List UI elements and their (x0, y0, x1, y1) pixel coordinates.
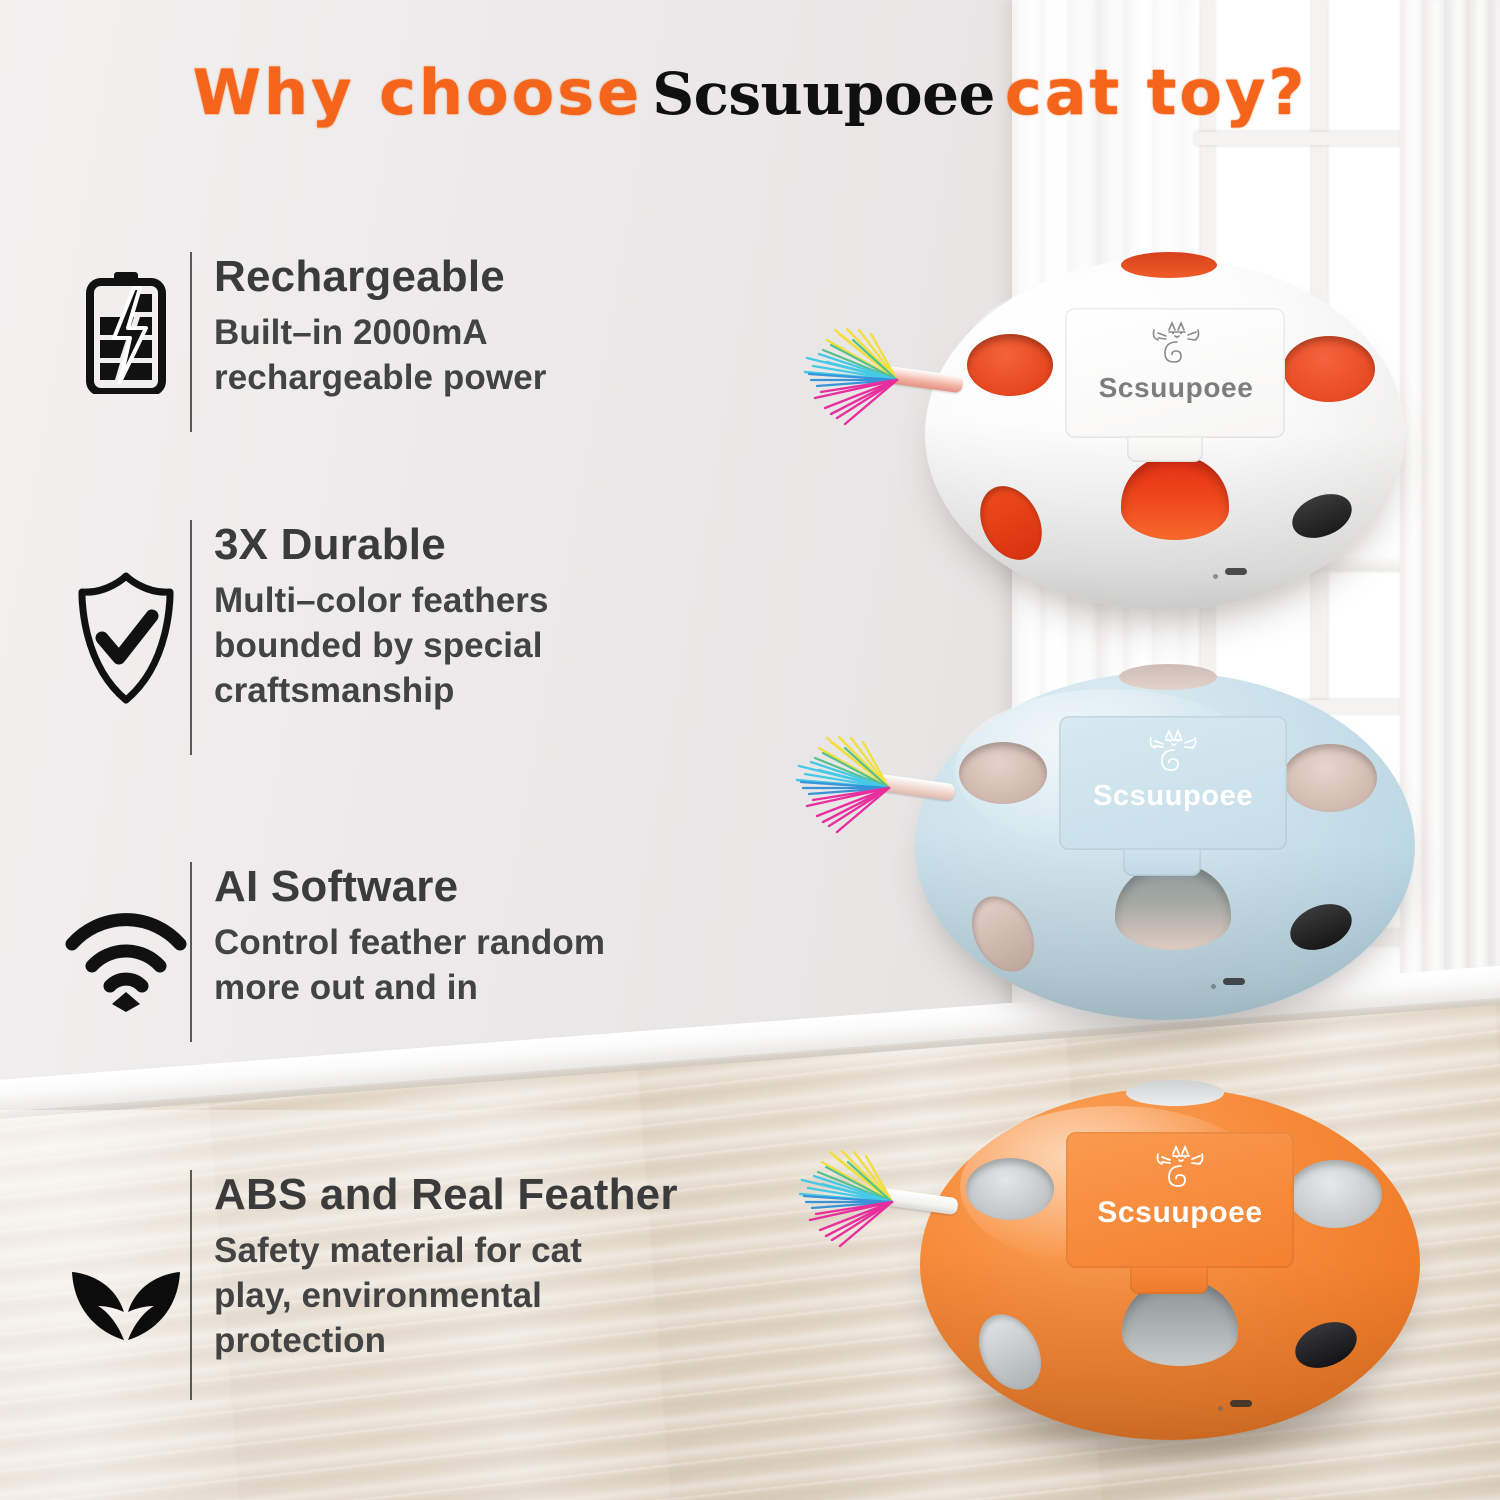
feature-rechargeable: Rechargeable Built–in 2000mA rechargeabl… (62, 252, 547, 432)
title-part-1: Why choose (193, 56, 643, 129)
feature-text: Rechargeable Built–in 2000mA rechargeabl… (214, 252, 547, 401)
toy-hole-front (1121, 456, 1229, 540)
toy-brand-text: Scsuupoee (1083, 780, 1263, 813)
toy-hole-right (1283, 744, 1377, 812)
orange-cat-toy[interactable]: Scsuupoee (920, 1088, 1420, 1440)
toy-lid-stem (1130, 1266, 1208, 1294)
usb-charging-port (1225, 568, 1247, 575)
toy-brand-text: Scsuupoee (1090, 1196, 1270, 1230)
feature-desc-line: Built–in 2000mA (214, 311, 547, 356)
feature-text: ABS and Real Feather Safety material for… (214, 1170, 678, 1364)
feature-description: Multi–color feathers bounded by special … (214, 579, 549, 713)
battery-charging-icon (62, 270, 190, 394)
status-led (1211, 984, 1216, 989)
feather-plume (789, 732, 909, 842)
title-part-2: cat toy? (1005, 56, 1307, 129)
title-brand: Scsuupoee (652, 60, 995, 128)
feather-wand[interactable] (799, 324, 999, 434)
feature-divider (190, 252, 192, 432)
toy-hole-right (1283, 336, 1375, 402)
feature-desc-line: bounded by special (214, 624, 549, 669)
toy-brand-text: Scsuupoee (1088, 372, 1264, 404)
feature-desc-line: Multi–color feathers (214, 579, 549, 624)
feature-desc-line: Safety material for cat (214, 1229, 678, 1274)
white-cat-toy[interactable]: Scsuupoee (925, 258, 1405, 610)
toy-hole-front (1115, 864, 1231, 950)
feature-desc-line: play, environmental (214, 1274, 678, 1319)
cat-line-logo-icon (1142, 728, 1204, 776)
feature-heading: AI Software (214, 862, 605, 911)
usb-charging-port (1223, 978, 1245, 985)
status-led (1218, 1406, 1223, 1411)
toy-logo: Scsuupoee (1083, 728, 1263, 813)
cat-line-logo-icon (1149, 1144, 1211, 1192)
toy-top-slot (1121, 252, 1217, 278)
infographic-canvas: Why chooseScsuupoeecat toy? Rechargeable… (0, 0, 1500, 1500)
toy-top-slot (1126, 1080, 1224, 1106)
feature-divider (190, 1170, 192, 1400)
feature-desc-line: craftsmanship (214, 669, 549, 714)
toy-top-slot (1119, 664, 1217, 690)
wifi-signal-icon (62, 910, 190, 1014)
toy-logo: Scsuupoee (1088, 320, 1264, 404)
feature-heading: Rechargeable (214, 252, 547, 301)
feather-wand[interactable] (794, 1146, 994, 1256)
feature-description: Control feather random more out and in (214, 921, 605, 1011)
toy-lid-stem (1123, 848, 1201, 876)
feature-heading: 3X Durable (214, 520, 549, 569)
cat-line-logo-icon (1145, 320, 1207, 368)
feature-ai-software: AI Software Control feather random more … (62, 862, 605, 1042)
feature-durable: 3X Durable Multi–color feathers bounded … (62, 520, 549, 755)
feature-divider (190, 520, 192, 755)
feature-desc-line: protection (214, 1319, 678, 1364)
feather-plume (792, 1146, 912, 1256)
feature-abs-real-feather: ABS and Real Feather Safety material for… (62, 1170, 678, 1400)
blue-cat-toy[interactable]: Scsuupoee (915, 672, 1415, 1020)
feature-desc-line: Control feather random (214, 921, 605, 966)
toy-lid-stem (1127, 436, 1203, 462)
feature-text: AI Software Control feather random more … (214, 862, 605, 1011)
feature-description: Built–in 2000mA rechargeable power (214, 311, 547, 401)
feature-text: 3X Durable Multi–color feathers bounded … (214, 520, 549, 714)
status-led (1213, 574, 1218, 579)
feature-divider (190, 862, 192, 1042)
feather-wand[interactable] (791, 732, 991, 842)
feather-plume (797, 324, 917, 434)
shield-check-icon (62, 570, 190, 706)
feature-description: Safety material for cat play, environmen… (214, 1229, 678, 1363)
feature-desc-line: more out and in (214, 966, 605, 1011)
usb-charging-port (1230, 1400, 1252, 1407)
toy-logo: Scsuupoee (1090, 1144, 1270, 1230)
toy-hole-right (1288, 1160, 1382, 1228)
feature-desc-line: rechargeable power (214, 356, 547, 401)
page-title: Why chooseScsuupoeecat toy? (0, 62, 1500, 125)
leaf-eco-icon (62, 1248, 190, 1348)
feature-heading: ABS and Real Feather (214, 1170, 678, 1219)
